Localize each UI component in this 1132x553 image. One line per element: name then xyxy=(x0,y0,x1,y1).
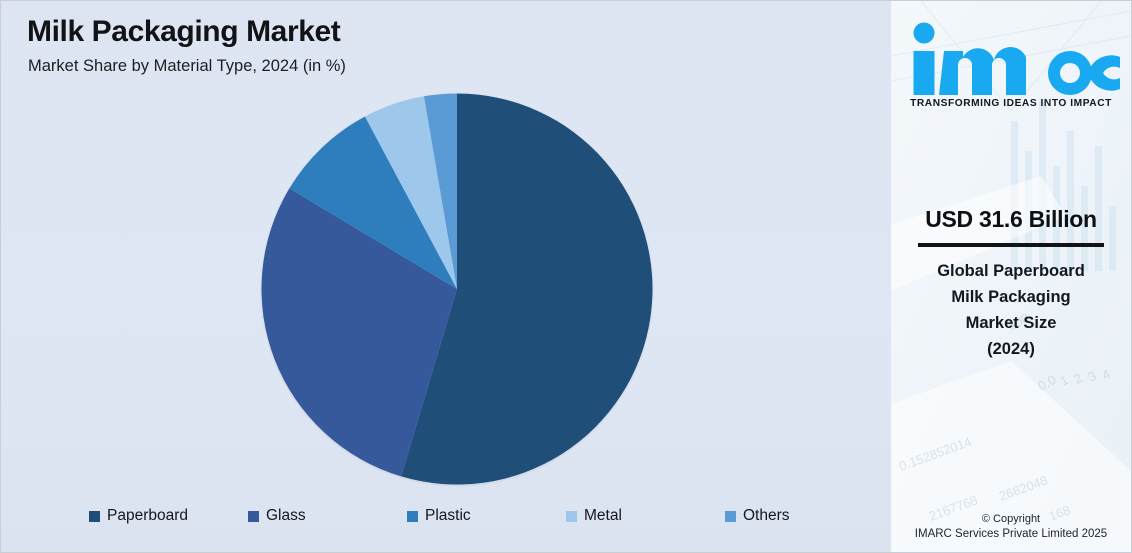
pie-slices xyxy=(261,94,652,485)
legend-label: Metal xyxy=(584,507,622,525)
logo-tagline: TRANSFORMING IDEAS INTO IMPACT xyxy=(891,98,1131,109)
legend-swatch-icon xyxy=(89,511,100,522)
page-title: Milk Packaging Market xyxy=(27,15,340,49)
copyright-line-1: © Copyright xyxy=(891,513,1131,525)
divider-rule xyxy=(918,243,1104,247)
legend-item-plastic[interactable]: Plastic xyxy=(407,507,566,525)
value-callout: USD 31.6 Billion Global PaperboardMilk P… xyxy=(901,206,1121,362)
legend-label: Glass xyxy=(266,507,306,525)
legend-item-metal[interactable]: Metal xyxy=(566,507,725,525)
legend-item-others[interactable]: Others xyxy=(725,507,884,525)
value-description-line-2: Milk Packaging xyxy=(901,284,1121,310)
legend-item-glass[interactable]: Glass xyxy=(248,507,407,525)
value-headline: USD 31.6 Billion xyxy=(901,206,1121,233)
chart-subtitle: Market Share by Material Type, 2024 (in … xyxy=(28,57,346,76)
legend-swatch-icon xyxy=(725,511,736,522)
legend-swatch-icon xyxy=(248,511,259,522)
value-description-line-1: Global Paperboard xyxy=(901,258,1121,284)
value-description: Global PaperboardMilk PackagingMarket Si… xyxy=(901,258,1121,362)
imarc-wordmark-icon xyxy=(902,19,1120,97)
chart-legend: PaperboardGlassPlasticMetalOthers xyxy=(1,499,891,533)
pie-chart-svg xyxy=(261,93,653,485)
value-description-line-3: Market Size xyxy=(901,310,1121,336)
legend-item-paperboard[interactable]: Paperboard xyxy=(89,507,248,525)
legend-label: Plastic xyxy=(425,507,471,525)
legend-swatch-icon xyxy=(407,511,418,522)
legend-label: Others xyxy=(743,507,790,525)
copyright-block: © Copyright IMARC Services Private Limit… xyxy=(891,513,1131,540)
imarc-logo: TRANSFORMING IDEAS INTO IMPACT xyxy=(891,19,1131,109)
value-description-line-4: (2024) xyxy=(901,336,1121,362)
chart-panel: Milk Packaging Market Market Share by Ma… xyxy=(1,1,891,552)
legend-swatch-icon xyxy=(566,511,577,522)
legend-label: Paperboard xyxy=(107,507,188,525)
infographic-frame: Milk Packaging Market Market Share by Ma… xyxy=(0,0,1132,553)
brand-panel: 500 0.0 1 2 3 4 0.152852014 2682048 2167… xyxy=(891,1,1131,552)
copyright-line-2: IMARC Services Private Limited 2025 xyxy=(891,528,1131,540)
pie-chart xyxy=(261,93,653,485)
